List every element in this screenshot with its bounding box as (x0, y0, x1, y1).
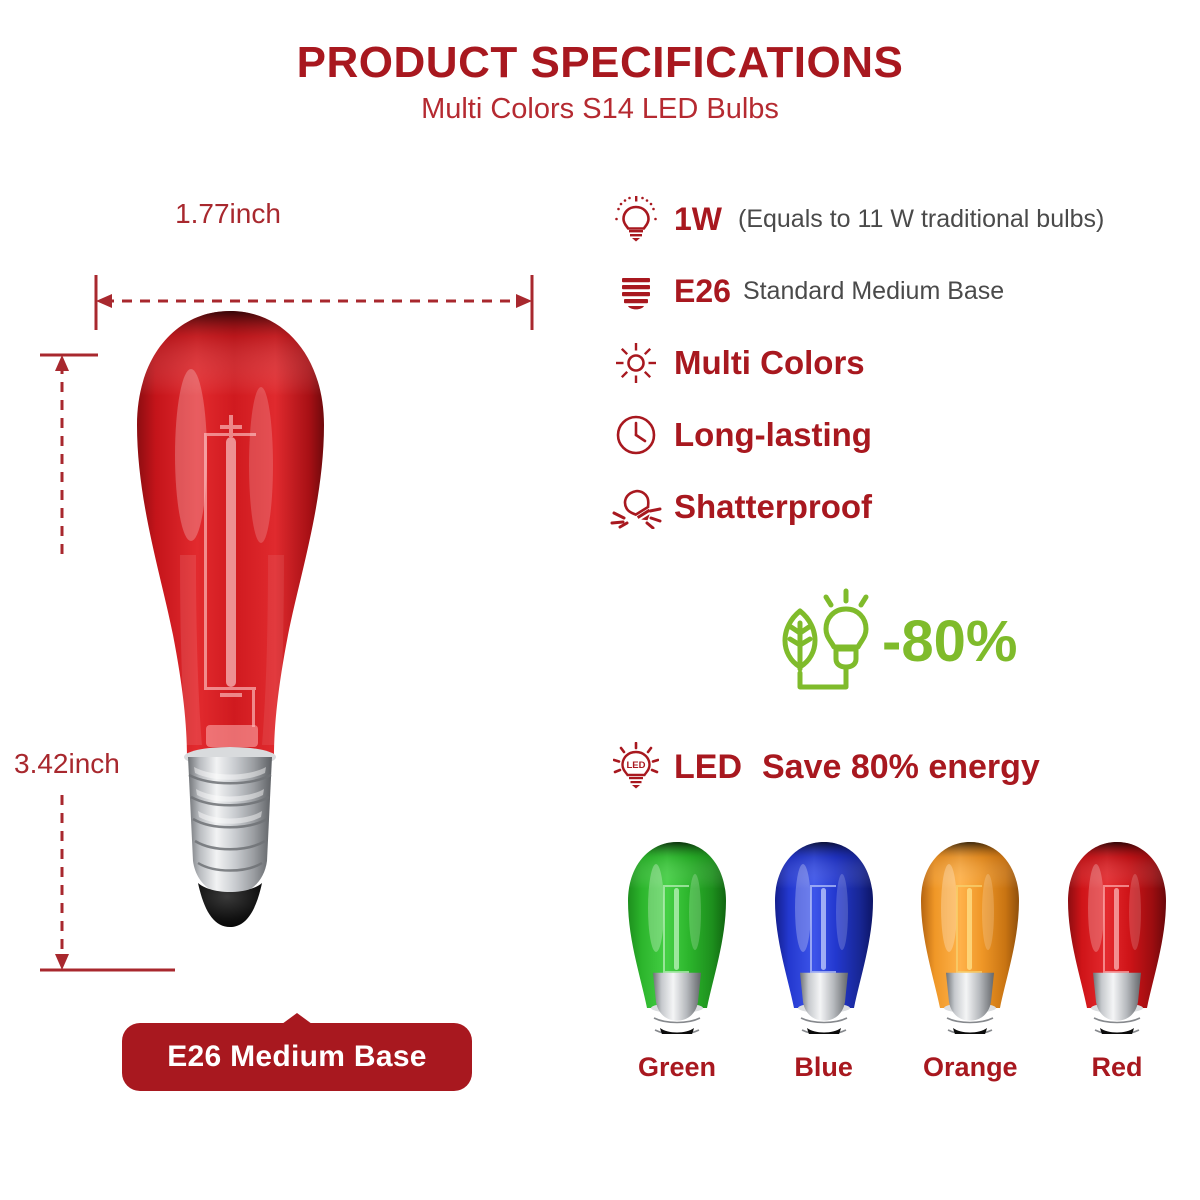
main-bulb-image (128, 305, 333, 965)
spec-key-shatterproof: Shatterproof (674, 488, 872, 526)
clock-icon (610, 414, 662, 456)
svg-text:LED: LED (627, 760, 646, 771)
screw-base-icon (610, 271, 662, 311)
led-bulb-icon: LED (610, 742, 662, 792)
spec-desc-base: Standard Medium Base (743, 277, 1004, 306)
base-type-badge-label: E26 Medium Base (167, 1040, 427, 1074)
color-options-row: Green (612, 838, 1182, 1083)
page-title: PRODUCT SPECIFICATIONS (0, 40, 1200, 86)
height-dimension-label: 3.42inch (14, 748, 120, 780)
led-energy-text: Save 80% energy (762, 748, 1040, 787)
color-label-blue: Blue (794, 1052, 853, 1083)
color-option-blue[interactable]: Blue (759, 838, 889, 1083)
color-option-green[interactable]: Green (612, 838, 742, 1083)
color-label-red: Red (1091, 1052, 1142, 1083)
header: PRODUCT SPECIFICATIONS Multi Colors S14 … (0, 40, 1200, 126)
spec-desc-wattage: (Equals to 11 W traditional bulbs) (738, 205, 1104, 234)
spec-row-wattage: 1W (Equals to 11 W traditional bulbs) (610, 190, 1200, 248)
bulb-image-blue (770, 838, 878, 1034)
width-dimension-label: 1.77inch (175, 198, 281, 230)
leaf-bulb-icon (770, 583, 888, 701)
base-type-badge: E26 Medium Base (122, 1023, 472, 1091)
bulb-icon (610, 196, 662, 242)
bulb-image-green (623, 838, 731, 1034)
led-label: LED (674, 748, 742, 787)
spec-list: 1W (Equals to 11 W traditional bulbs) E2… (610, 190, 1200, 550)
spec-key-colors: Multi Colors (674, 344, 865, 382)
spec-row-shatterproof: Shatterproof (610, 478, 1200, 536)
color-label-orange: Orange (923, 1052, 1018, 1083)
spec-key-base: E26 (674, 273, 731, 310)
bulb-image-red (1063, 838, 1171, 1034)
spec-key-wattage: 1W (674, 201, 722, 238)
sun-icon (610, 341, 662, 385)
product-spec-infographic: PRODUCT SPECIFICATIONS Multi Colors S14 … (0, 0, 1200, 1200)
color-label-green: Green (638, 1052, 716, 1083)
energy-saving-percent: -80% (882, 613, 1017, 671)
spec-row-colors: Multi Colors (610, 334, 1200, 392)
energy-saving-badge: -80% (770, 583, 1017, 701)
led-energy-row: LED (610, 742, 1040, 792)
spec-row-base: E26 Standard Medium Base (610, 262, 1200, 320)
bulb-image-orange (916, 838, 1024, 1034)
shatterproof-icon (610, 485, 662, 529)
spec-key-lifetime: Long-lasting (674, 416, 872, 454)
dimension-panel: 1.77inch 3.42inch (0, 170, 590, 1130)
color-option-orange[interactable]: Orange (905, 838, 1035, 1083)
color-option-red[interactable]: Red (1052, 838, 1182, 1083)
badge-pointer-icon (282, 1013, 312, 1024)
page-subtitle: Multi Colors S14 LED Bulbs (0, 94, 1200, 126)
spec-row-lifetime: Long-lasting (610, 406, 1200, 464)
